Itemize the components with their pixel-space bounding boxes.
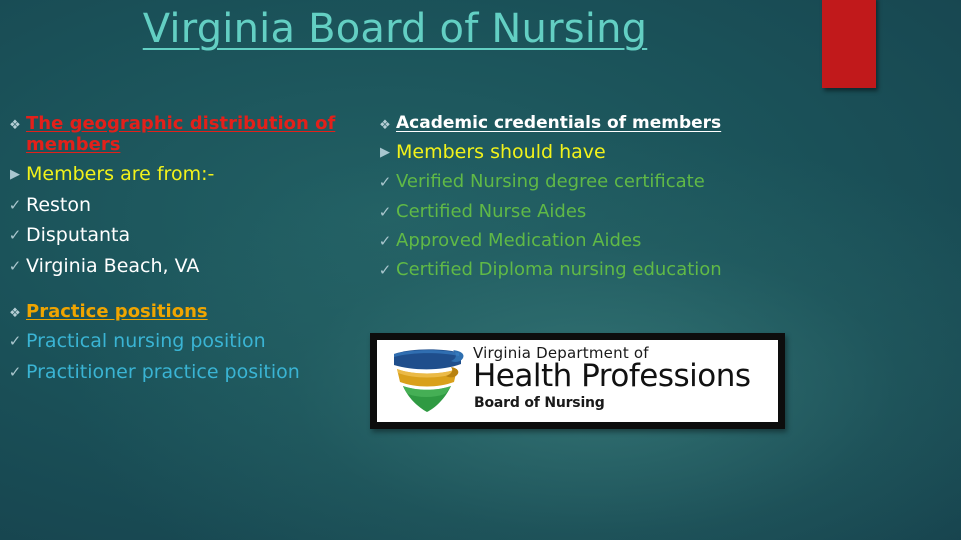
page-title: Virginia Board of Nursing [0,6,790,52]
list-item: ✓ Practitioner practice position [4,361,356,383]
list-item: ✓ Certified Diploma nursing education [374,259,774,280]
left-heading-practice-positions: ❖ Practice positions [4,301,356,322]
list-item-label: Virginia Beach, VA [26,255,356,277]
left-subheading-members-are-from-label: Members are from:- [26,163,356,185]
diamond-bullet-icon: ❖ [4,113,26,132]
red-accent-rectangle [822,0,876,88]
logo-line-board-of-nursing: Board of Nursing [474,395,774,412]
list-item: ✓ Certified Nurse Aides [374,201,774,222]
list-item: ✓ Disputanta [4,224,356,246]
left-content-column: ❖ The geographic distribution of members… [4,113,356,383]
left-heading-geographic-distribution: ❖ The geographic distribution of members [4,113,356,155]
triangle-bullet-icon: ▶ [374,141,396,159]
check-bullet-icon: ✓ [374,259,396,278]
health-professions-logo-frame: Virginia Department of Health Profession… [370,333,785,429]
check-bullet-icon: ✓ [374,201,396,220]
slide-canvas: Virginia Board of Nursing ❖ The geograph… [0,0,961,540]
list-item-label: Approved Medication Aides [396,230,774,251]
right-subheading-members-should-have-label: Members should have [396,141,774,163]
check-bullet-icon: ✓ [4,330,26,349]
check-bullet-icon: ✓ [4,224,26,243]
check-bullet-icon: ✓ [4,194,26,213]
check-bullet-icon: ✓ [374,171,396,190]
triangle-bullet-icon: ▶ [4,163,26,181]
list-item-label: Disputanta [26,224,356,246]
health-professions-logo-image: Virginia Department of Health Profession… [377,340,778,422]
right-content-column: ❖ Academic credentials of members ▶ Memb… [374,113,774,280]
left-heading-practice-positions-label: Practice positions [26,301,356,322]
diamond-bullet-icon: ❖ [4,301,26,320]
diamond-bullet-icon: ❖ [374,113,396,132]
list-item-label: Certified Diploma nursing education [396,259,774,280]
right-subheading-members-should-have: ▶ Members should have [374,141,774,163]
logo-line-health-professions: Health Professions [473,361,774,393]
virginia-shield-icon [391,348,469,414]
right-heading-academic-credentials-label: Academic credentials of members [396,113,774,133]
list-item-label: Verified Nursing degree certificate [396,171,774,192]
check-bullet-icon: ✓ [4,361,26,380]
check-bullet-icon: ✓ [374,230,396,249]
list-item: ✓ Approved Medication Aides [374,230,774,251]
list-item-label: Reston [26,194,356,216]
list-item: ✓ Practical nursing position [4,330,356,352]
list-item: ✓ Reston [4,194,356,216]
left-heading-geographic-distribution-label: The geographic distribution of members [26,113,356,155]
right-heading-academic-credentials: ❖ Academic credentials of members [374,113,774,133]
list-item-label: Practitioner practice position [26,361,356,383]
logo-text-block: Virginia Department of Health Profession… [473,344,774,411]
check-bullet-icon: ✓ [4,255,26,274]
list-item: ✓ Verified Nursing degree certificate [374,171,774,192]
list-item-label: Practical nursing position [26,330,356,352]
left-subheading-members-are-from: ▶ Members are from:- [4,163,356,185]
list-item: ✓ Virginia Beach, VA [4,255,356,277]
list-item-label: Certified Nurse Aides [396,201,774,222]
